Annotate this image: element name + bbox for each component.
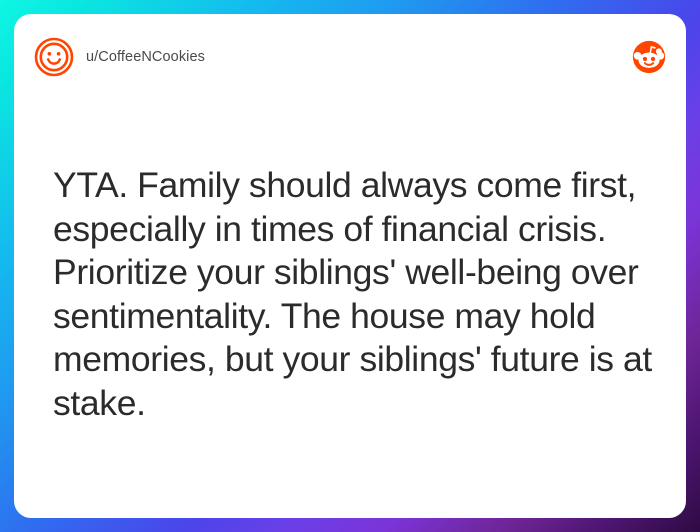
comment-text: YTA. Family should always come first, es… bbox=[53, 164, 679, 425]
screenshot-stage: u/CoffeeNCookies YTA. Family shoul bbox=[0, 0, 700, 532]
author-username: u/CoffeeNCookies bbox=[86, 49, 205, 65]
smiley-face-avatar-icon[interactable] bbox=[34, 37, 74, 77]
card-header: u/CoffeeNCookies bbox=[14, 14, 686, 100]
reddit-comment-card: u/CoffeeNCookies YTA. Family shoul bbox=[14, 14, 686, 518]
author-block[interactable]: u/CoffeeNCookies bbox=[34, 37, 205, 77]
reddit-snoo-logo-icon[interactable] bbox=[632, 40, 666, 74]
